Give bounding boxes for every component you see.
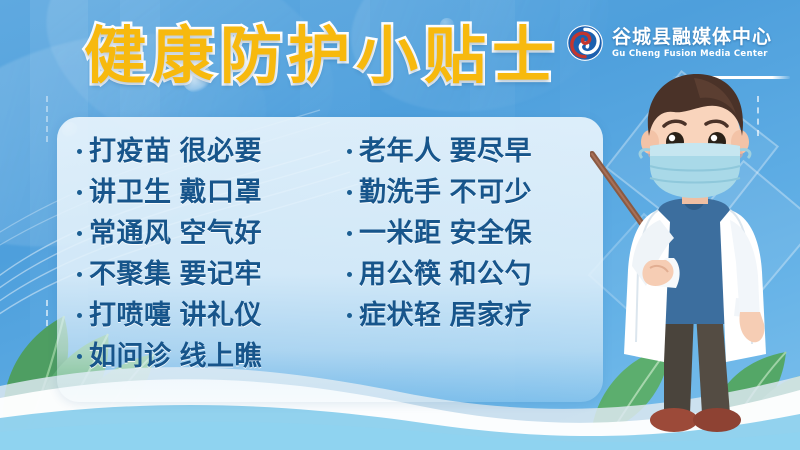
tip-text: 如问诊线上瞧 <box>89 338 262 376</box>
swirl-logo-icon <box>566 24 604 62</box>
brand-name-cn: 谷城县融媒体中心 <box>612 28 772 47</box>
bullet-icon <box>77 190 82 195</box>
tip-text: 不聚集要记牢 <box>89 256 262 294</box>
list-item: 不聚集要记牢 <box>77 256 333 297</box>
list-item: 打疫苗很必要 <box>77 133 333 174</box>
tip-text: 老年人要尽早 <box>359 133 532 171</box>
tip-text: 打喷嚏讲礼仪 <box>89 297 262 335</box>
tip-text: 一米距安全保 <box>359 215 532 253</box>
list-item: 老年人要尽早 <box>347 133 603 174</box>
brand-text: 谷城县融媒体中心 Gu Cheng Fusion Media Center <box>612 28 772 59</box>
bullet-icon <box>347 313 352 318</box>
list-item: 如问诊线上瞧 <box>77 338 333 379</box>
bullet-icon <box>77 231 82 236</box>
background-bokeh <box>88 402 110 424</box>
list-item: 常通风空气好 <box>77 215 333 256</box>
bullet-icon <box>347 272 352 277</box>
tip-text: 常通风空气好 <box>89 215 262 253</box>
bullet-icon <box>347 149 352 154</box>
brand-logo[interactable]: 谷城县融媒体中心 Gu Cheng Fusion Media Center <box>566 24 772 62</box>
list-item: 勤洗手不可少 <box>347 174 603 215</box>
dashed-line <box>46 96 48 142</box>
bullet-icon <box>77 354 82 359</box>
doctor-illustration <box>590 62 800 450</box>
list-item: 讲卫生戴口罩 <box>77 174 333 215</box>
dashed-line <box>46 300 48 356</box>
list-item: 一米距安全保 <box>347 215 603 256</box>
list-item: 用公筷和公勺 <box>347 256 603 297</box>
bullet-icon <box>347 231 352 236</box>
list-item: 打喷嚏讲礼仪 <box>77 297 333 338</box>
poster-canvas: 健康防护小贴士 谷城县融媒体中心 Gu Cheng Fusion Media C… <box>0 0 800 450</box>
tip-text: 打疫苗很必要 <box>89 133 262 171</box>
bullet-icon <box>77 149 82 154</box>
tip-text: 勤洗手不可少 <box>359 174 532 212</box>
tip-text: 症状轻居家疗 <box>359 297 532 335</box>
list-item: 症状轻居家疗 <box>347 297 603 338</box>
bullet-icon <box>347 190 352 195</box>
bullet-icon <box>77 313 82 318</box>
tip-text: 用公筷和公勺 <box>359 256 532 294</box>
tips-column-right: 老年人要尽早 勤洗手不可少 一米距安全保 用公筷和公勺 症状轻居家疗 <box>333 117 603 402</box>
background-bokeh <box>14 392 48 426</box>
tip-text: 讲卫生戴口罩 <box>89 174 262 212</box>
page-title: 健康防护小贴士 <box>84 22 560 90</box>
brand-name-en: Gu Cheng Fusion Media Center <box>612 50 772 59</box>
bullet-icon <box>77 272 82 277</box>
tips-container: 打疫苗很必要 讲卫生戴口罩 常通风空气好 不聚集要记牢 打喷嚏讲礼仪 如问诊线上… <box>57 117 603 402</box>
tips-column-left: 打疫苗很必要 讲卫生戴口罩 常通风空气好 不聚集要记牢 打喷嚏讲礼仪 如问诊线上… <box>57 117 333 402</box>
